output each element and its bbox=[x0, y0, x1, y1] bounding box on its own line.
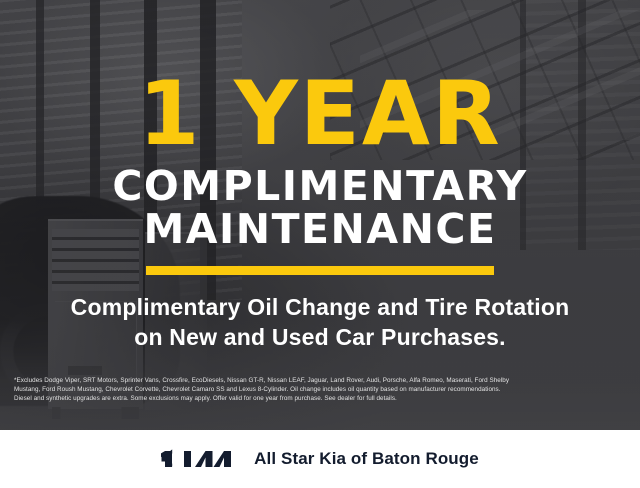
headline-maintenance: MAINTENANCE bbox=[143, 208, 496, 251]
footer-bar: All Star Kia of Baton Rouge bbox=[0, 430, 640, 488]
headline-one-year: 1 YEAR bbox=[138, 74, 502, 155]
promo-banner: 1 YEAR COMPLIMENTARY MAINTENANCE Complim… bbox=[0, 0, 640, 488]
subheadline-line-2: on New and Used Car Purchases. bbox=[71, 322, 570, 352]
subheadline: Complimentary Oil Change and Tire Rotati… bbox=[71, 292, 570, 353]
disclaimer-line-2: Mustang, Ford Roush Mustang, Chevrolet C… bbox=[14, 386, 626, 395]
headline-complimentary: COMPLIMENTARY bbox=[112, 165, 527, 208]
kia-logo-icon bbox=[161, 449, 235, 469]
disclaimer-text: *Excludes Dodge Viper, SRT Motors, Sprin… bbox=[14, 377, 626, 404]
disclaimer-line-1: *Excludes Dodge Viper, SRT Motors, Sprin… bbox=[14, 377, 626, 386]
promo-content: 1 YEAR COMPLIMENTARY MAINTENANCE Complim… bbox=[0, 0, 640, 488]
disclaimer-line-3: Diesel and synthetic upgrades are extra.… bbox=[14, 395, 626, 404]
subheadline-line-1: Complimentary Oil Change and Tire Rotati… bbox=[71, 292, 570, 322]
dealer-name: All Star Kia of Baton Rouge bbox=[254, 449, 479, 469]
yellow-divider-rule bbox=[146, 266, 494, 275]
